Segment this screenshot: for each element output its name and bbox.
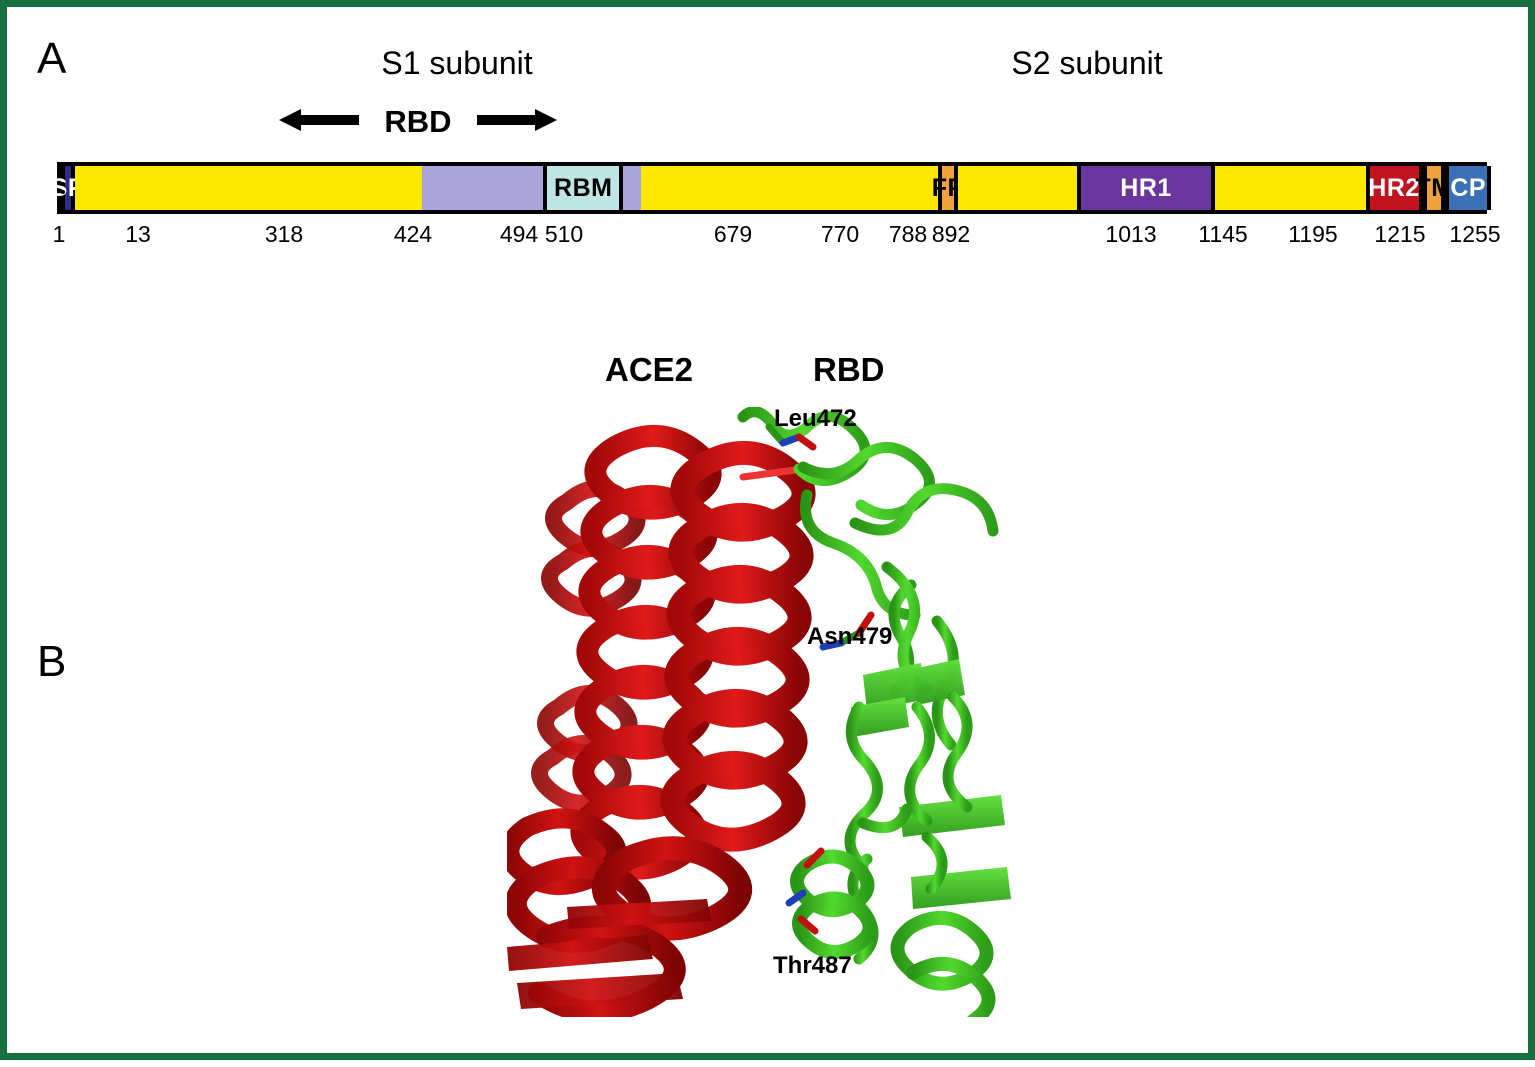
residue-tick-row: 1133184244945106797707888921013114511951… bbox=[7, 221, 1535, 261]
arrow-left-icon bbox=[279, 107, 359, 138]
residue-tick-679: 679 bbox=[714, 221, 752, 248]
rbd-span-annotation: RBD bbox=[279, 100, 557, 144]
panel-a-letter: A bbox=[37, 37, 66, 81]
residue-tick-494: 494 bbox=[500, 221, 538, 248]
domain-segment-label: HR1 bbox=[1120, 174, 1172, 203]
residue-tick-510: 510 bbox=[545, 221, 583, 248]
domain-segment-rbm: RBM bbox=[543, 166, 623, 210]
residue-tick-318: 318 bbox=[265, 221, 303, 248]
arrow-right-icon bbox=[477, 107, 557, 138]
domain-segment-linker-1 bbox=[75, 166, 423, 210]
spike-domain-bar: SPRBMFPHR1HR2TMCP bbox=[57, 162, 1487, 214]
ace2-helix-bundle bbox=[507, 436, 804, 1012]
figure-panel-container: A S1 subunit S2 subunit RBD SPRBMFPHR1HR… bbox=[0, 0, 1535, 1060]
residue-tick-1215: 1215 bbox=[1374, 221, 1425, 248]
rbd-span-label: RBD bbox=[378, 104, 457, 140]
domain-segment-linker-9 bbox=[1215, 166, 1366, 210]
domain-segment-linker-5 bbox=[641, 166, 937, 210]
panel-b-letter: B bbox=[37, 640, 66, 684]
rbd-structure-label: RBD bbox=[813, 351, 885, 389]
domain-segment-linker-4 bbox=[623, 166, 641, 210]
domain-segment-label: RBM bbox=[554, 174, 612, 203]
residue-tick-1195: 1195 bbox=[1288, 221, 1337, 248]
domain-segment-cp: CP bbox=[1445, 166, 1491, 210]
cleavage-site-marker bbox=[61, 166, 65, 210]
domain-segment-tm: TM bbox=[1423, 166, 1446, 210]
residue-tick-770: 770 bbox=[821, 221, 859, 248]
domain-segment-linker-7 bbox=[958, 166, 1077, 210]
s1-subunit-label: S1 subunit bbox=[287, 45, 627, 82]
residue-label-leu472: Leu472 bbox=[774, 405, 857, 433]
ace2-rbd-complex-structure bbox=[507, 407, 1027, 1017]
residue-tick-1145: 1145 bbox=[1198, 221, 1247, 248]
residue-tick-424: 424 bbox=[394, 221, 432, 248]
residue-tick-1255: 1255 bbox=[1449, 221, 1500, 248]
domain-segment-label: CP bbox=[1450, 174, 1486, 203]
residue-label-thr487: Thr487 bbox=[773, 952, 852, 980]
domain-segment-label: HR2 bbox=[1368, 174, 1420, 203]
residue-tick-1: 1 bbox=[53, 221, 66, 248]
panel-b: B ACE2 RBD bbox=[7, 307, 1535, 1067]
s2-subunit-label: S2 subunit bbox=[827, 45, 1347, 82]
panel-a: A S1 subunit S2 subunit RBD SPRBMFPHR1HR… bbox=[7, 7, 1535, 307]
residue-label-asn479: Asn479 bbox=[807, 623, 892, 651]
domain-segment-hr1: HR1 bbox=[1077, 166, 1215, 210]
ace2-label: ACE2 bbox=[605, 351, 693, 389]
domain-segment-hr2: HR2 bbox=[1366, 166, 1423, 210]
residue-tick-13: 13 bbox=[125, 221, 151, 248]
residue-tick-892: 892 bbox=[932, 221, 970, 248]
residue-tick-788: 788 bbox=[889, 221, 927, 248]
domain-segment-linker-2 bbox=[422, 166, 543, 210]
domain-segment-fp: FP bbox=[938, 166, 959, 210]
residue-tick-1013: 1013 bbox=[1105, 221, 1156, 248]
